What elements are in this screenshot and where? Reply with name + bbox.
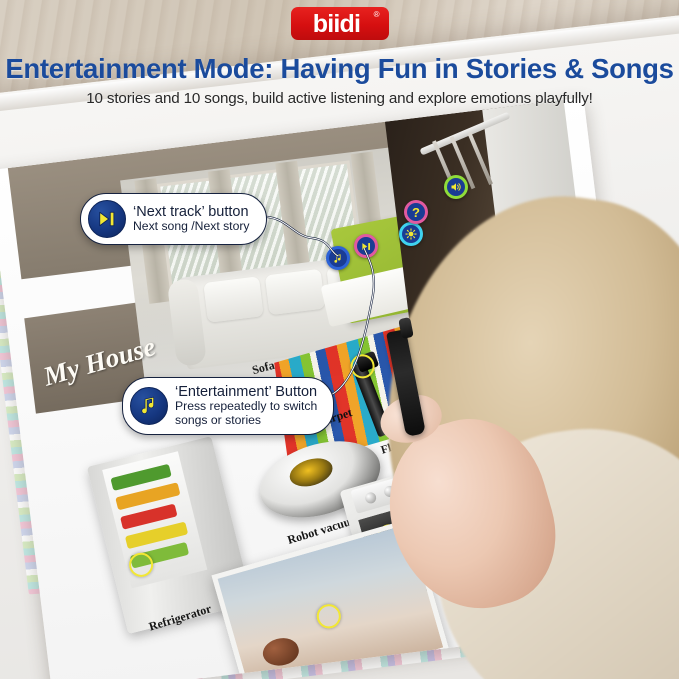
callout-entertainment[interactable]: ‘Entertainment’ Button Press repeatedly … — [122, 377, 334, 435]
callout-next-track-title: ‘Next track’ button — [133, 204, 250, 220]
volume-mode-icon — [450, 181, 462, 193]
brand-logo: biidi ® — [291, 7, 389, 40]
question-mode-icon: ? — [412, 206, 420, 219]
mode-icon-volume[interactable] — [444, 175, 468, 199]
sofa-cushion — [265, 269, 325, 316]
sofa-cushion — [203, 276, 263, 323]
callout-badge-next-track — [88, 200, 126, 238]
sofa-arm — [167, 278, 207, 367]
mode-icon-inner — [357, 237, 375, 255]
callout-entertainment-subtitle-line2: songs or stories — [175, 414, 317, 428]
mode-icon-inner: ? — [407, 203, 425, 221]
mode-icon-inner — [329, 249, 347, 267]
oven-knob[interactable] — [364, 491, 378, 505]
callout-badge-entertainment — [130, 387, 168, 425]
promo-image: My House Sofa Bed Wardrobe Iron Carpet — [0, 0, 679, 679]
music-note-icon — [333, 253, 344, 264]
promo-header: biidi ® Entertainment Mode: Having Fun i… — [0, 0, 679, 122]
mode-icon-inner — [402, 225, 420, 243]
callout-entertainment-text: ‘Entertainment’ Button Press repeatedly … — [175, 384, 317, 428]
mode-icon-next-track[interactable] — [354, 234, 378, 258]
star-mode-icon — [405, 228, 417, 240]
registered-trademark-icon: ® — [374, 11, 380, 19]
mode-icon-music-note[interactable] — [326, 246, 350, 270]
mode-icon-inner — [447, 178, 465, 196]
callout-next-track-subtitle: Next song /Next story — [133, 220, 250, 234]
callout-entertainment-subtitle-line1: Press repeatedly to switch — [175, 400, 317, 414]
brand-logo-text: biidi — [313, 12, 360, 37]
next-track-icon — [97, 209, 117, 229]
music-note-icon — [139, 395, 160, 416]
callout-next-track-text: ‘Next track’ button Next song /Next stor… — [133, 204, 250, 234]
page-subheadline: 10 stories and 10 songs, build active li… — [0, 90, 679, 107]
callout-next-track[interactable]: ‘Next track’ button Next song /Next stor… — [80, 193, 267, 245]
mode-icon-star[interactable] — [399, 222, 423, 246]
callout-entertainment-title: ‘Entertainment’ Button — [175, 384, 317, 400]
next-track-icon — [361, 241, 372, 252]
page-headline: Entertainment Mode: Having Fun in Storie… — [0, 53, 679, 85]
mode-icon-question[interactable]: ? — [404, 200, 428, 224]
